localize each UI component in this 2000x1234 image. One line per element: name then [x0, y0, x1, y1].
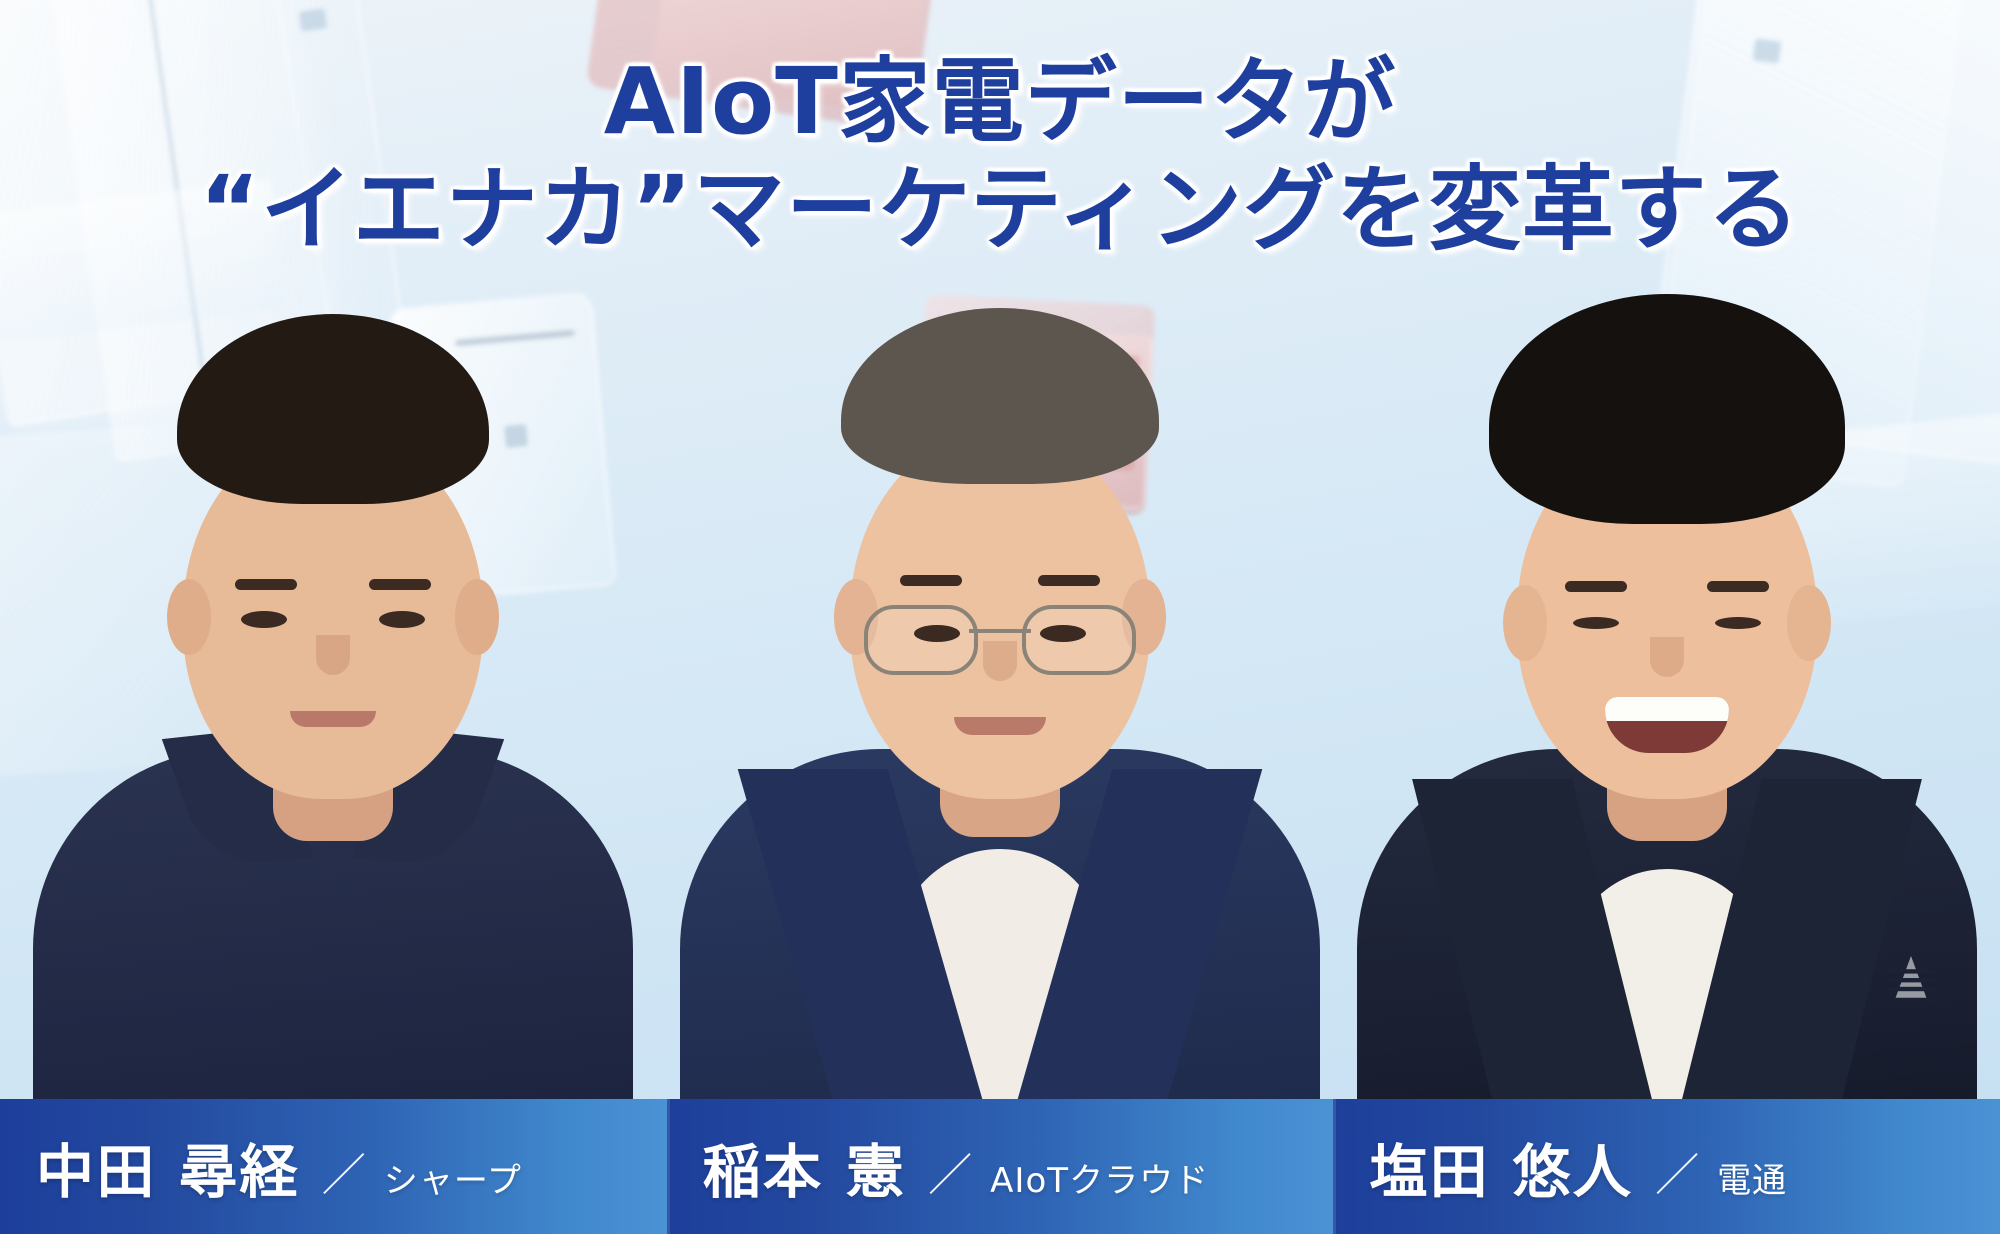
control-chip-right: [1753, 38, 1781, 63]
shiota-nose: [1650, 637, 1684, 677]
speaker-plate-nakata: 中田 尋経 ／ シャープ: [0, 1099, 667, 1234]
control-chip-left: [299, 8, 328, 31]
name-org-separator: ／: [928, 1139, 972, 1203]
nakata-brow-left: [235, 579, 297, 590]
speaker-org-inamoto: AIoTクラウド: [990, 1153, 1209, 1202]
speaker-org-nakata: シャープ: [384, 1153, 522, 1202]
glasses-lens-left: [864, 605, 978, 675]
inamoto-eye-right: [1040, 625, 1086, 642]
speaker-photo-shiota: [1333, 300, 2000, 1099]
shiota-eye-right: [1715, 617, 1761, 629]
plate-inner-nakata: 中田 尋経 ／ シャープ: [36, 1125, 522, 1209]
shiota-eye-left: [1573, 617, 1619, 629]
inamoto-head: [850, 429, 1150, 799]
shiota-ear-right: [1787, 585, 1831, 661]
nakata-nose: [316, 635, 350, 675]
speaker-name-bar: 中田 尋経 ／ シャープ 稲本 憲 ／ AIoTクラウド 塩田 悠人 ／ 電通: [0, 1099, 2000, 1234]
speaker-name-nakata: 中田 尋経: [36, 1125, 300, 1209]
shiota-teeth: [1605, 697, 1729, 721]
shiota-brow-right: [1707, 581, 1769, 592]
speaker-name-inamoto: 稲本 憲: [703, 1125, 906, 1209]
speaker-photo-inamoto: [667, 300, 1334, 1099]
inamoto-nose: [983, 641, 1017, 681]
speaker-name-shiota: 塩田 悠人: [1369, 1125, 1633, 1209]
shiota-ear-left: [1503, 585, 1547, 661]
figure-inamoto: [667, 300, 1334, 1099]
inamoto-hair: [841, 308, 1159, 484]
nakata-eye-right: [379, 611, 425, 628]
brand-logo-icon: [1878, 952, 1944, 1004]
inamoto-brow-left: [900, 575, 962, 586]
speaker-photo-row: [0, 300, 2000, 1099]
name-org-separator: ／: [1655, 1139, 1699, 1203]
inamoto-mouth: [954, 717, 1046, 735]
speaker-plate-inamoto: 稲本 憲 ／ AIoTクラウド: [667, 1099, 1334, 1234]
speaker-org-shiota: 電通: [1717, 1153, 1787, 1202]
nakata-brow-right: [369, 579, 431, 590]
speaker-photo-nakata: [0, 300, 667, 1099]
figure-shiota: [1333, 300, 2000, 1099]
nakata-hair: [177, 314, 489, 504]
speaker-plate-shiota: 塩田 悠人 ／ 電通: [1333, 1099, 2000, 1234]
nakata-eye-left: [241, 611, 287, 628]
plate-inner-inamoto: 稲本 憲 ／ AIoTクラウド: [703, 1125, 1210, 1209]
inamoto-brow-right: [1038, 575, 1100, 586]
plate-inner-shiota: 塩田 悠人 ／ 電通: [1369, 1125, 1787, 1209]
nakata-ear-right: [455, 579, 499, 655]
shiota-brow-left: [1565, 581, 1627, 592]
name-org-separator: ／: [322, 1139, 366, 1203]
glasses-lens-right: [1022, 605, 1136, 675]
shiota-hair: [1489, 294, 1845, 524]
nakata-mouth: [290, 711, 376, 727]
nakata-ear-left: [167, 579, 211, 655]
glasses-bridge: [969, 629, 1031, 633]
inamoto-eye-left: [914, 625, 960, 642]
shiota-mouth: [1605, 697, 1729, 753]
article-hero-banner: AIoT家電データが “イエナカ”マーケティングを変革する 中田 尋経 ／ シャ…: [0, 0, 2000, 1234]
figure-nakata: [0, 300, 667, 1099]
